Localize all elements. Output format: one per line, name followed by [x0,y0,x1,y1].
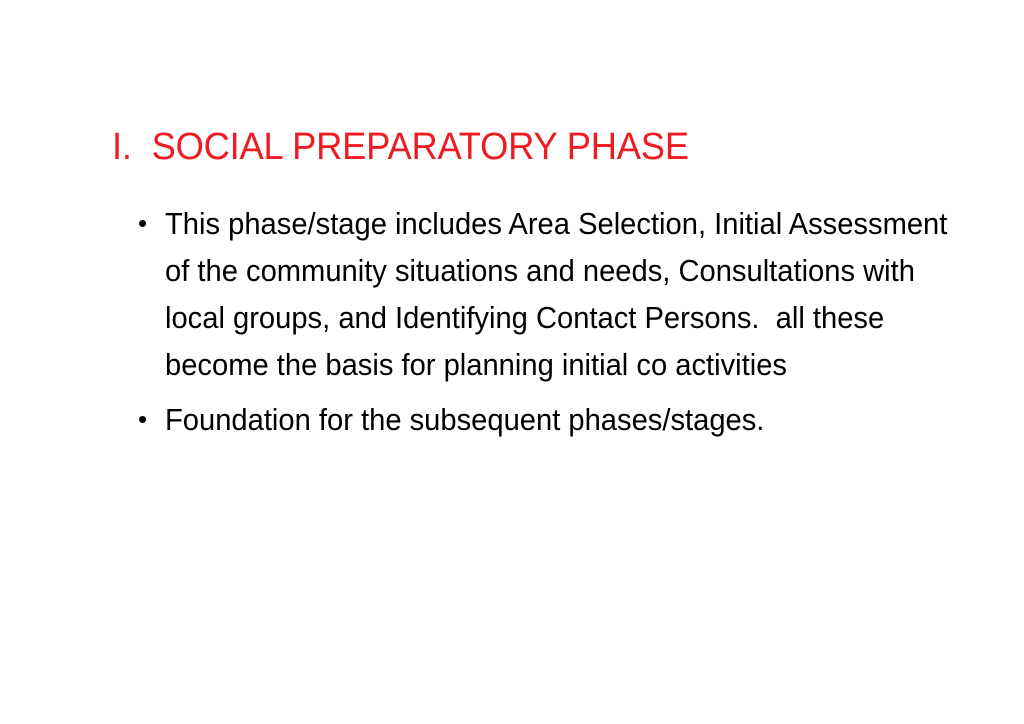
list-item-text: This phase/stage includes Area Selection… [165,200,956,388]
bullet-dot-icon: • [138,200,158,247]
list-item: • This phase/stage includes Area Selecti… [136,200,956,388]
list-item-text: Foundation for the subsequent phases/sta… [165,396,956,443]
bullet-dot-icon: • [138,396,158,443]
page-title: I. SOCIAL PREPARATORY PHASE [112,124,689,170]
bullet-list: • This phase/stage includes Area Selecti… [136,200,956,443]
slide-canvas: I. SOCIAL PREPARATORY PHASE • This phase… [0,0,1024,724]
list-item: • Foundation for the subsequent phases/s… [136,396,956,443]
